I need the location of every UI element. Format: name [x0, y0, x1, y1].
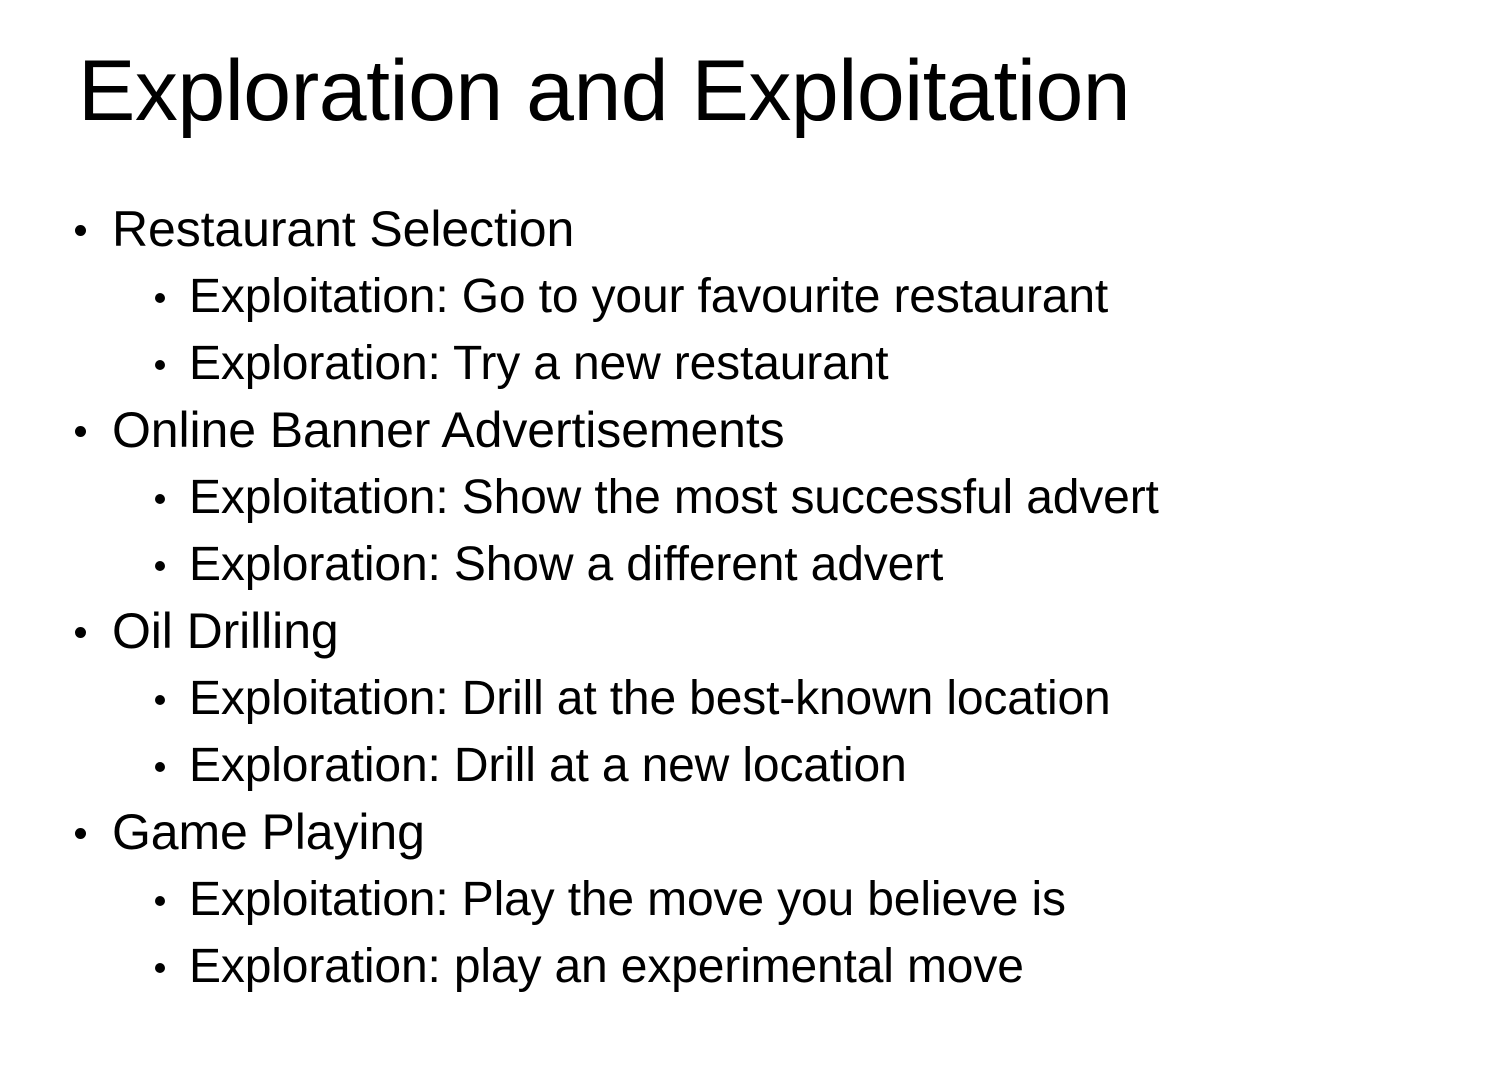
- bullet-dot-icon: [155, 695, 165, 705]
- bullet-dot-icon: [155, 561, 165, 571]
- bullet-level2-restaurant-exploitation: Exploitation: Go to your favourite resta…: [0, 263, 1500, 330]
- bullet-dot-icon: [155, 762, 165, 772]
- slide-title: Exploration and Exploitation: [78, 36, 1418, 146]
- bullet-level1-online-banner-advertisements: Online Banner Advertisements: [0, 397, 1500, 464]
- bullet-dot-icon: [75, 426, 86, 437]
- bullet-level1-game-playing: Game Playing: [0, 799, 1500, 866]
- presentation-slide: Exploration and Exploitation Restaurant …: [0, 0, 1500, 1080]
- bullet-level1-restaurant-selection: Restaurant Selection: [0, 196, 1500, 263]
- bullet-dot-icon: [155, 360, 165, 370]
- bullet-dot-icon: [155, 963, 165, 973]
- bullet-dot-icon: [75, 627, 86, 638]
- bullet-level2-label: Exploration: Drill at a new location: [189, 732, 907, 799]
- bullet-level2-advert-exploration: Exploration: Show a different advert: [0, 531, 1500, 598]
- bullet-level1-label: Online Banner Advertisements: [112, 397, 785, 464]
- bullet-level1-label: Game Playing: [112, 799, 425, 866]
- bullet-dot-icon: [155, 293, 165, 303]
- bullet-level1-label: Restaurant Selection: [112, 196, 574, 263]
- bullet-level2-label: Exploitation: Go to your favourite resta…: [189, 263, 1108, 330]
- bullet-dot-icon: [155, 494, 165, 504]
- bullet-dot-icon: [75, 225, 86, 236]
- bullet-level2-game-exploitation: Exploitation: Play the move you believe …: [0, 866, 1500, 933]
- bullet-level2-label: Exploration: Show a different advert: [189, 531, 943, 598]
- bullet-level2-restaurant-exploration: Exploration: Try a new restaurant: [0, 330, 1500, 397]
- bullet-level2-advert-exploitation: Exploitation: Show the most successful a…: [0, 464, 1500, 531]
- bullet-dot-icon: [75, 828, 86, 839]
- bullet-level2-game-exploration: Exploration: play an experimental move: [0, 933, 1500, 1000]
- bullet-level2-label: Exploitation: Show the most successful a…: [189, 464, 1159, 531]
- bullet-level2-label: Exploitation: Play the move you believe …: [189, 866, 1066, 933]
- bullet-level2-label: Exploration: play an experimental move: [189, 933, 1024, 1000]
- bullet-level2-label: Exploitation: Drill at the best-known lo…: [189, 665, 1111, 732]
- bullet-level1-label: Oil Drilling: [112, 598, 339, 665]
- bullet-level2-drilling-exploitation: Exploitation: Drill at the best-known lo…: [0, 665, 1500, 732]
- bullet-level2-drilling-exploration: Exploration: Drill at a new location: [0, 732, 1500, 799]
- bullet-level1-oil-drilling: Oil Drilling: [0, 598, 1500, 665]
- bullet-level2-label: Exploration: Try a new restaurant: [189, 330, 888, 397]
- bullet-dot-icon: [155, 896, 165, 906]
- slide-body-list: Restaurant Selection Exploitation: Go to…: [0, 196, 1500, 1000]
